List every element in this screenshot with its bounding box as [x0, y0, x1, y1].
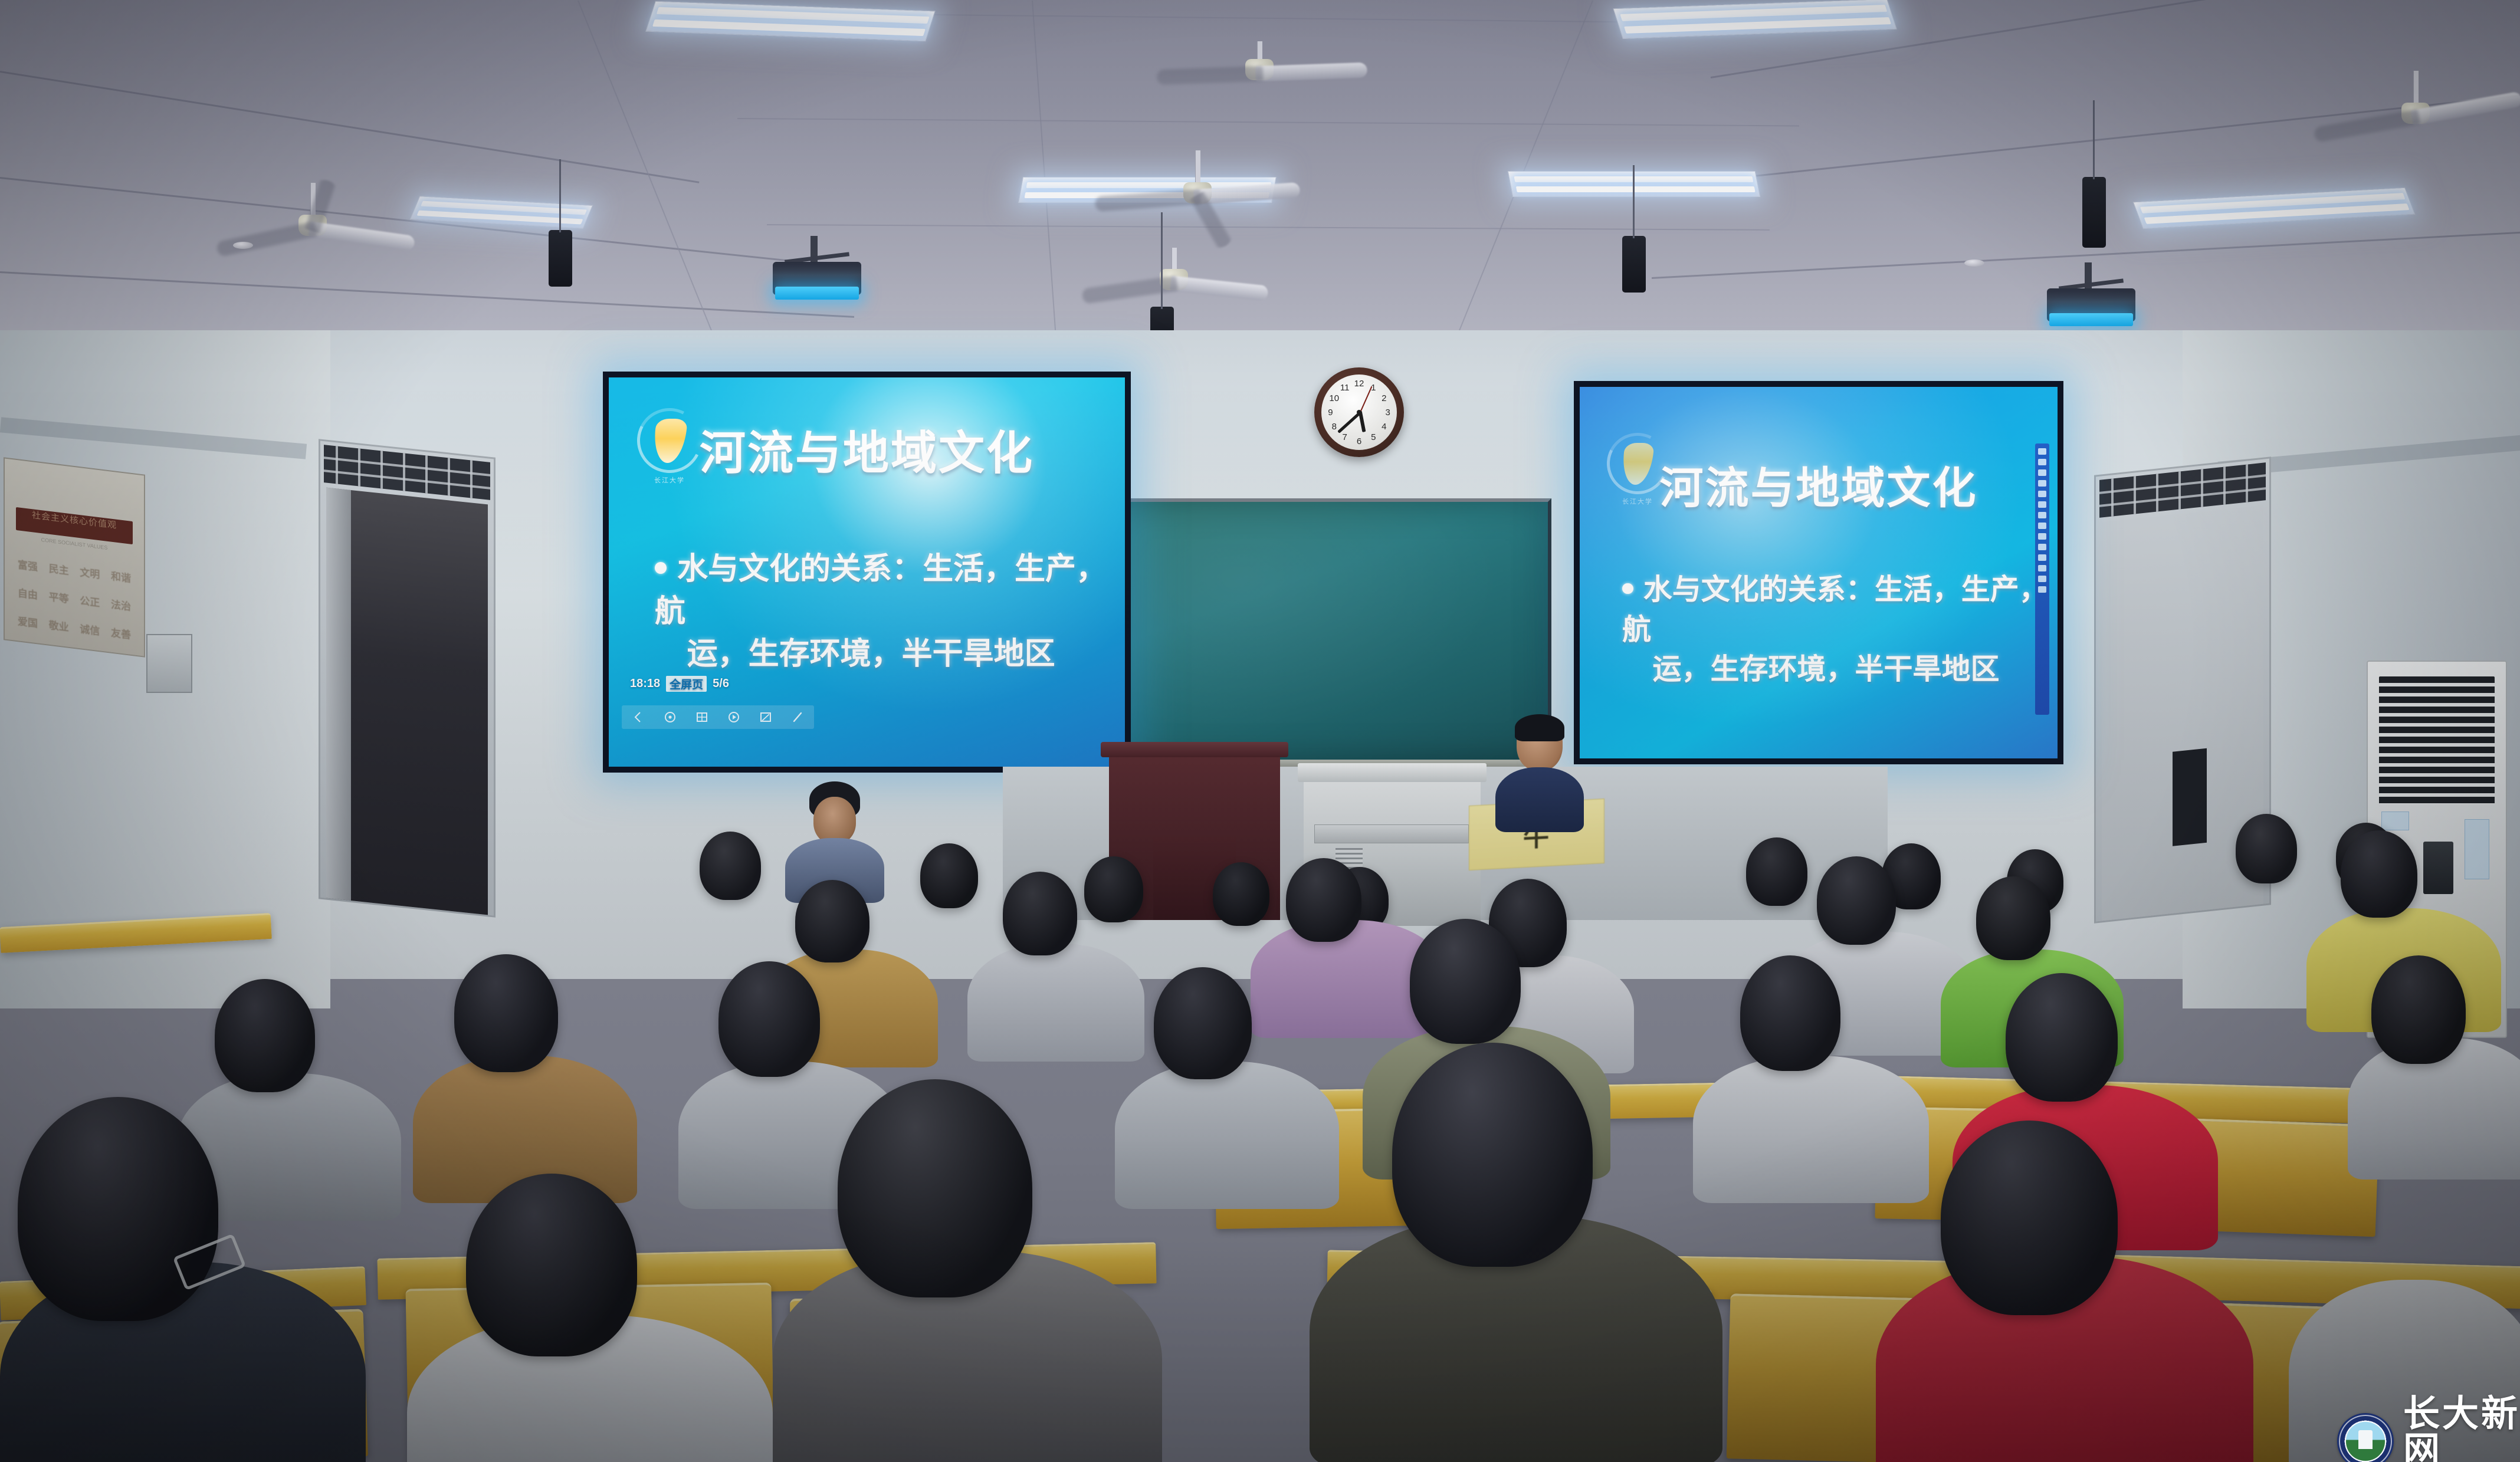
- student-head: [1154, 967, 1252, 1079]
- projection-screen-left[interactable]: 长江大学 河流与地域文化 水与文化的关系：生活，生产，航 运，生存环境，半干旱地…: [603, 372, 1131, 773]
- smartboard-button[interactable]: [2038, 565, 2046, 571]
- slide-content-left: 长江大学 河流与地域文化 水与文化的关系：生活，生产，航 运，生存环境，半干旱地…: [609, 377, 1125, 767]
- student-head: [700, 832, 761, 900]
- poster-value: 诚信: [75, 614, 104, 644]
- smartboard-button[interactable]: [2038, 448, 2046, 455]
- smoke-detector-right: [1964, 259, 1984, 267]
- ac-sticker-left: [2381, 812, 2409, 830]
- clock-numeral: 12: [1353, 379, 1365, 388]
- watermark-site-name: 长大新闻网: [2403, 1395, 2520, 1462]
- previous-slide-icon[interactable]: [630, 709, 647, 725]
- student-head: [1410, 919, 1521, 1044]
- console-desktop: [1298, 763, 1487, 782]
- ppt-elapsed-time: 18:18: [630, 677, 660, 691]
- smartboard-button[interactable]: [2038, 576, 2046, 582]
- smartboard-button[interactable]: [2038, 512, 2046, 518]
- slide-bullet-right: 水与文化的关系：生活，生产，航 运，生存环境，半干旱地区: [1622, 570, 2063, 689]
- student-head: [2006, 973, 2118, 1102]
- poster-banner-text: 社会主义核心价值观: [16, 507, 133, 534]
- ac-control-panel[interactable]: [2423, 842, 2453, 894]
- poster-value: 公正: [75, 586, 104, 616]
- student-head: [718, 961, 820, 1077]
- instructor: [1492, 717, 1587, 829]
- console-drawer[interactable]: [1314, 824, 1469, 843]
- clock-numeral: 4: [1378, 422, 1390, 431]
- door-left[interactable]: [319, 439, 496, 918]
- lecture-hall-photo: 社会主义核心价值观 CORE SOCIALIST VALUES 富强 民主 文明…: [0, 0, 2520, 1462]
- hanging-speaker-3: [1622, 236, 1646, 293]
- instructor-hair: [1515, 714, 1564, 741]
- poster-value: 平等: [44, 582, 74, 612]
- smartboard-button[interactable]: [2038, 554, 2046, 561]
- hanging-speaker-4: [2082, 177, 2106, 248]
- student-head: [2371, 955, 2466, 1064]
- slide-title-left: 河流与地域文化: [609, 416, 1125, 482]
- slide-bullet-line2: 运，生存环境，半干旱地区: [687, 636, 1055, 672]
- poster-value: 爱国: [13, 606, 42, 636]
- student-head: [1817, 856, 1896, 945]
- next-slide-icon[interactable]: [726, 709, 742, 725]
- ceiling-fan-1: [254, 183, 372, 265]
- zoom-icon[interactable]: [757, 709, 774, 725]
- clock-numeral: 5: [1367, 432, 1379, 442]
- student-head: [920, 843, 978, 908]
- instructor-torso: [1495, 767, 1584, 832]
- seal-building-icon: [2358, 1430, 2372, 1450]
- student-head: [2341, 830, 2417, 918]
- student-shoulders: [1693, 1056, 1929, 1203]
- student-head: [1746, 837, 1807, 906]
- smartboard-button[interactable]: [2038, 459, 2046, 465]
- student-head: [1976, 876, 2050, 960]
- student-shoulders: [967, 944, 1144, 1062]
- student-head: [1084, 856, 1143, 922]
- pointer-icon[interactable]: [662, 709, 678, 725]
- student-head: [1003, 872, 1077, 955]
- bullet-dot-icon: [1622, 583, 1633, 594]
- poster-value: 友善: [106, 617, 136, 648]
- poster-value: 富强: [13, 550, 42, 580]
- clock-face: 12 1 2 3 4 5 6 7 8 9 10 11: [1321, 374, 1397, 450]
- ceiling-fan-2: [1133, 150, 1262, 239]
- presenter-head: [813, 797, 856, 844]
- clock-numeral: 7: [1339, 432, 1351, 442]
- wall-clock: 12 1 2 3 4 5 6 7 8 9 10 11: [1314, 367, 1404, 457]
- door-right-handle-slot: [2173, 748, 2207, 846]
- ceiling-fan-4: [2348, 71, 2483, 159]
- poster-value: 法治: [106, 590, 136, 620]
- student-head-foreground: [466, 1174, 637, 1356]
- clock-hub: [1357, 410, 1361, 415]
- slide-grid-icon[interactable]: [694, 709, 710, 725]
- poster-value: 民主: [44, 554, 74, 584]
- ppt-slide-counter: 5/6: [713, 677, 729, 691]
- poster-value: 自由: [13, 578, 42, 608]
- ppt-status-bar: 18:18 全屏页 5/6: [630, 676, 729, 692]
- smartboard-button[interactable]: [2038, 480, 2046, 487]
- student-head: [2236, 814, 2297, 883]
- student-shoulders: [1115, 1062, 1339, 1209]
- pen-icon[interactable]: [789, 709, 806, 725]
- clock-numeral: 6: [1353, 436, 1365, 446]
- student-head: [1740, 955, 1840, 1071]
- news-site-watermark: 长大新闻网 news.yangtzeu.edu.cn: [2337, 1395, 2520, 1462]
- student-head: [215, 979, 315, 1092]
- student-head: [795, 880, 869, 962]
- slide-bullet-line2: 运，生存环境，半干旱地区: [1652, 652, 1999, 686]
- poster-value-grid: 富强 民主 文明 和谐 自由 平等 公正 法治 爱国 敬业 诚信 友善: [13, 550, 136, 648]
- student-head-foreground: [1392, 1043, 1593, 1267]
- door-left-leaf[interactable]: [326, 488, 351, 901]
- presenter-at-console: [790, 781, 879, 893]
- lectern-top: [1101, 742, 1288, 757]
- smartboard-button[interactable]: [2038, 491, 2046, 497]
- projection-screen-right[interactable]: 长江大学 河流与地域文化 水与文化的关系：生活，生产，航 运，生存环境，半干旱地…: [1574, 381, 2063, 764]
- watermark-text-block: 长大新闻网 news.yangtzeu.edu.cn: [2403, 1395, 2520, 1462]
- ac-sticker-right: [2465, 819, 2489, 879]
- slide-content-right: 长江大学 河流与地域文化 水与文化的关系：生活，生产，航 运，生存环境，半干旱地…: [1580, 387, 2058, 758]
- slide-bullet-line1: 水与文化的关系：生活，生产，航: [1622, 573, 2048, 646]
- green-chalkboard: [1106, 498, 1551, 764]
- smartboard-button[interactable]: [2038, 523, 2046, 529]
- ppt-mode-chip: 全屏页: [666, 676, 707, 692]
- ceiling: [0, 0, 2520, 377]
- student-head: [454, 954, 558, 1072]
- clock-numeral: 3: [1382, 408, 1394, 417]
- clock-numeral: 10: [1328, 393, 1340, 403]
- ceiling-projector-left: [773, 236, 861, 307]
- smoke-detector-left: [233, 242, 253, 249]
- ceiling-fan-3: [1115, 248, 1233, 330]
- bullet-dot-icon: [655, 562, 667, 574]
- slide-bullet-line1: 水与文化的关系：生活，生产，航: [655, 551, 1107, 629]
- slide-title-right: 河流与地域文化: [1580, 453, 2058, 516]
- poster-value: 文明: [75, 557, 104, 587]
- ppt-presenter-toolbar[interactable]: [622, 705, 814, 729]
- smartboard-side-toolbar[interactable]: [2035, 443, 2049, 715]
- smartboard-button[interactable]: [2038, 501, 2046, 508]
- smartboard-button[interactable]: [2038, 586, 2046, 593]
- yangtze-university-seal-icon: [2337, 1413, 2394, 1462]
- hanging-speaker-1: [549, 230, 572, 287]
- clock-numeral: 9: [1324, 408, 1336, 417]
- poster-value: 敬业: [44, 610, 74, 640]
- wall-utility-box: [146, 634, 192, 693]
- ceiling-fan-5: [1197, 41, 1321, 130]
- ac-grille: [2379, 676, 2495, 804]
- clock-numeral: 11: [1339, 383, 1351, 392]
- smartboard-button[interactable]: [2038, 544, 2046, 550]
- ceiling-projector-right: [2047, 262, 2135, 333]
- smartboard-button[interactable]: [2038, 533, 2046, 540]
- clock-second-hand: [1359, 386, 1372, 413]
- slide-bullet-left: 水与文化的关系：生活，生产，航 运，生存环境，半干旱地区: [655, 548, 1127, 675]
- smartboard-button[interactable]: [2038, 469, 2046, 476]
- student-head: [1286, 858, 1361, 942]
- student-head-foreground: [838, 1079, 1032, 1297]
- student-head-foreground: [1941, 1121, 2118, 1315]
- clock-numeral: 2: [1378, 393, 1390, 403]
- core-values-poster: 社会主义核心价值观 CORE SOCIALIST VALUES 富强 民主 文明…: [4, 457, 145, 657]
- student-head: [1213, 862, 1269, 926]
- poster-value: 和谐: [106, 561, 136, 592]
